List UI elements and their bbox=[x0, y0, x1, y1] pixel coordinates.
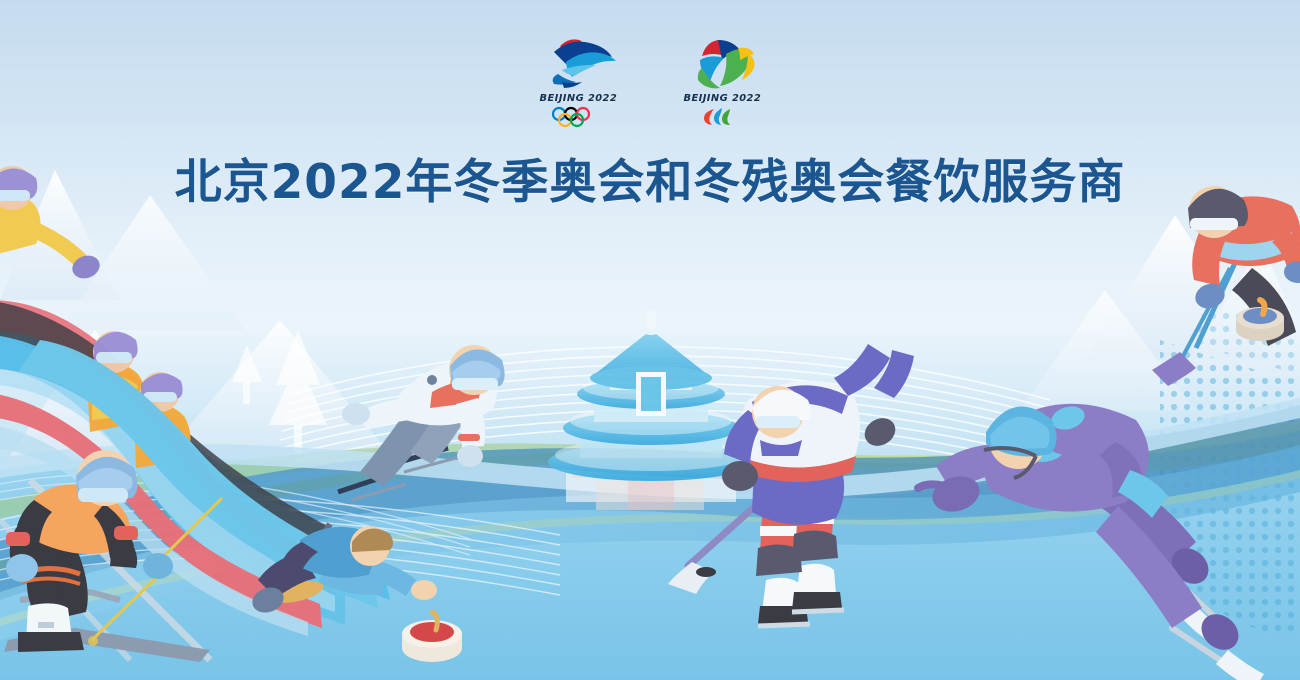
olympic-emblem-mark bbox=[532, 34, 624, 90]
paralympic-emblem-mark bbox=[676, 34, 768, 90]
olympic-banner: BEIJING 2022 BEIJIN bbox=[0, 0, 1300, 680]
curling-stone-red bbox=[402, 612, 462, 662]
emblem-row: BEIJING 2022 BEIJIN bbox=[0, 34, 1300, 128]
curler-sweeping bbox=[1152, 186, 1300, 386]
paralympic-agitos-icon bbox=[692, 106, 752, 128]
short-track-skater bbox=[338, 345, 505, 500]
paralympic-emblem: BEIJING 2022 bbox=[674, 34, 770, 128]
page-title: 北京2022年冬季奥会和冬残奥会餐饮服务商 bbox=[0, 143, 1300, 212]
olympic-wordmark: BEIJING 2022 bbox=[539, 93, 617, 104]
speed-skater bbox=[918, 403, 1264, 680]
olympic-emblem: BEIJING 2022 bbox=[530, 34, 626, 128]
olympic-rings-icon bbox=[548, 106, 608, 128]
paralympic-wordmark: BEIJING 2022 bbox=[683, 93, 761, 104]
ice-hockey-player bbox=[668, 344, 914, 626]
